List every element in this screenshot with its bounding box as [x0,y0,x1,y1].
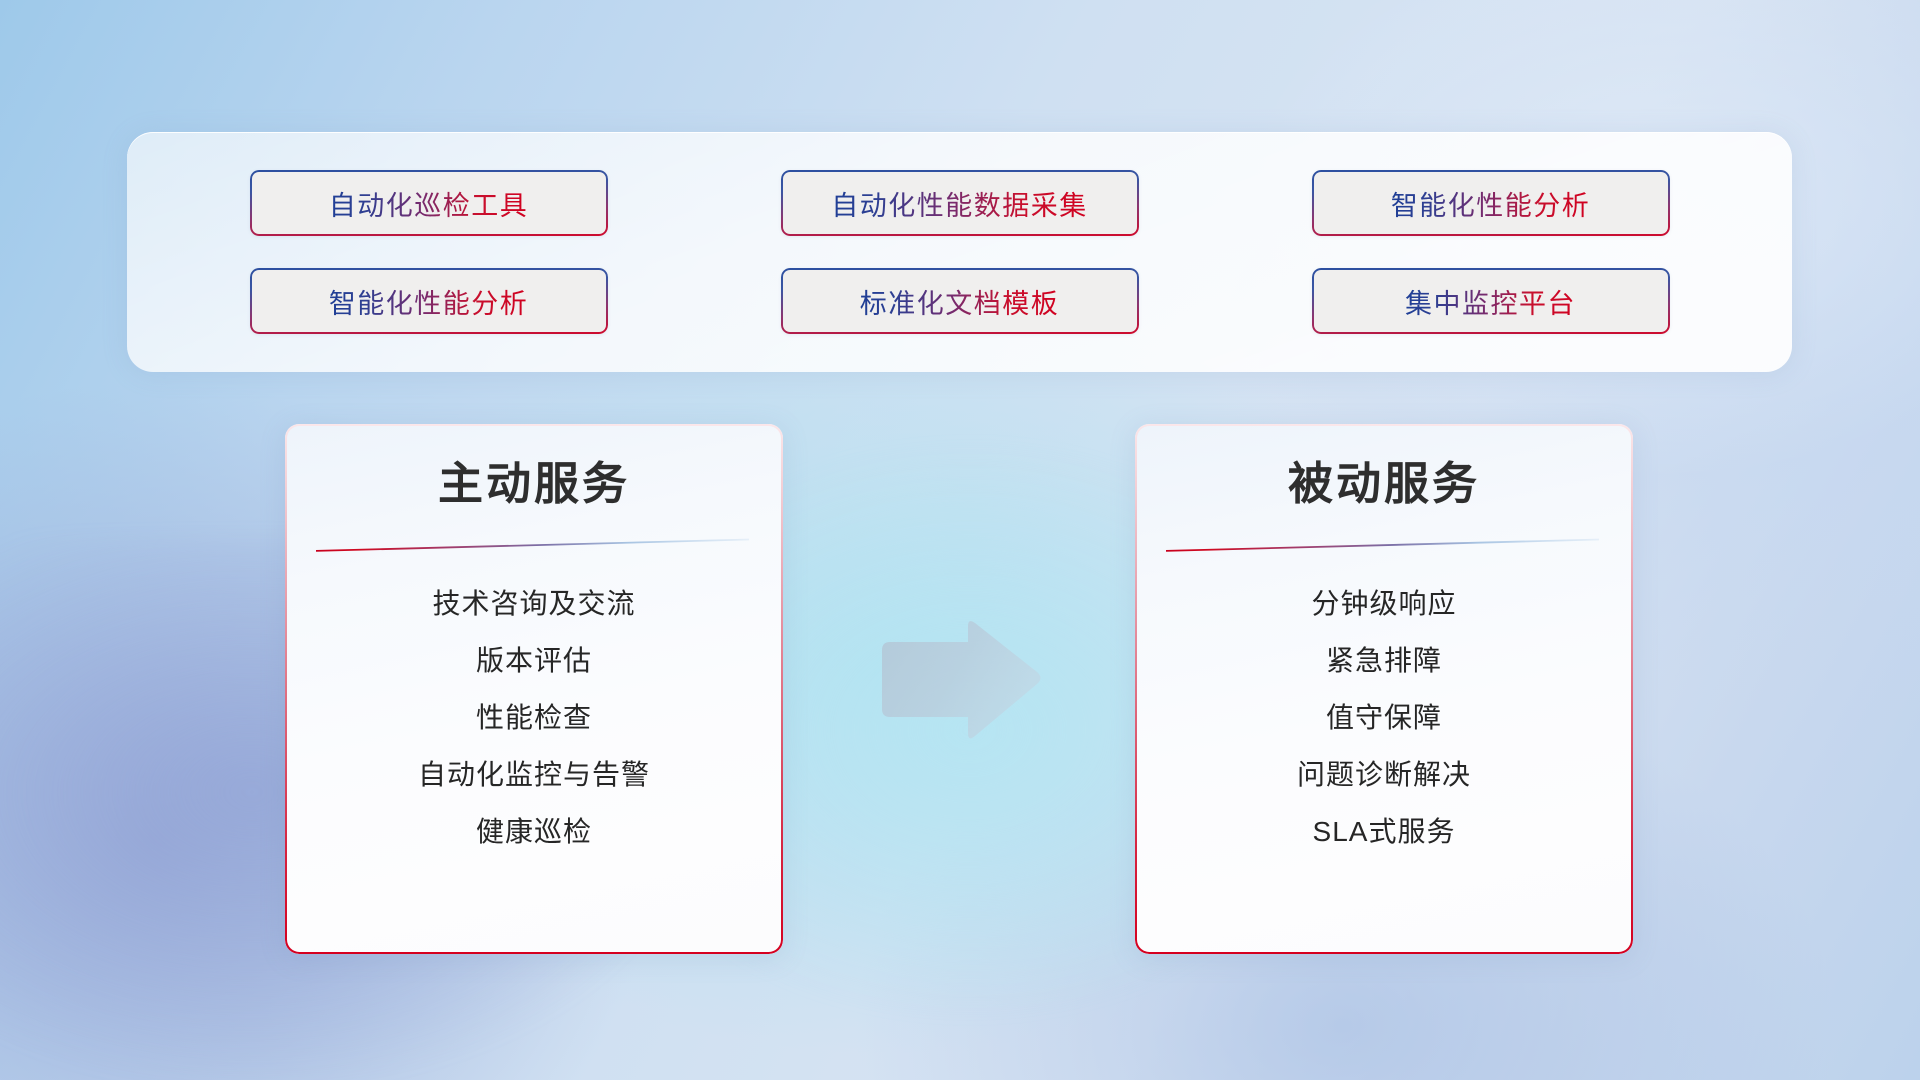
service-card-list: 分钟级响应 紧急排障 值守保障 问题诊断解决 SLA式服务 [1165,576,1603,861]
service-card-body: 被动服务 [1135,424,1633,954]
list-item: 自动化监控与告警 [315,747,753,804]
capability-pill-label: 集中监控平台 [1405,282,1576,321]
capability-pill-label: 自动化巡检工具 [329,184,529,223]
capability-pill-3[interactable]: 智能化性能分析 [1312,170,1670,236]
capabilities-panel: 自动化巡检工具 自动化性能数据采集 智能化性能分析 智能化性能分析 标准化文档模… [127,132,1792,372]
service-card-body: 主动服务 [285,424,783,954]
slide-canvas: 自动化巡检工具 自动化性能数据采集 智能化性能分析 智能化性能分析 标准化文档模… [0,0,1920,1080]
title-divider [316,538,749,552]
list-item: 版本评估 [315,633,753,690]
list-item: SLA式服务 [1165,804,1603,861]
service-card-proactive[interactable]: 主动服务 [285,424,783,954]
list-item: 健康巡检 [315,804,753,861]
capability-pill-4[interactable]: 智能化性能分析 [250,268,608,334]
service-card-reactive[interactable]: 被动服务 [1135,424,1633,954]
capability-pill-5[interactable]: 标准化文档模板 [781,268,1139,334]
list-item: 值守保障 [1165,690,1603,747]
service-card-title: 主动服务 [315,456,753,512]
arrow-right-icon [878,618,1043,743]
capability-pill-1[interactable]: 自动化巡检工具 [250,170,608,236]
capability-pill-2[interactable]: 自动化性能数据采集 [781,170,1139,236]
title-divider [1166,538,1599,552]
capability-pill-label: 智能化性能分析 [1391,184,1591,223]
service-card-title: 被动服务 [1165,456,1603,512]
service-card-list: 技术咨询及交流 版本评估 性能检查 自动化监控与告警 健康巡检 [315,576,753,861]
list-item: 问题诊断解决 [1165,747,1603,804]
capability-pill-label: 自动化性能数据采集 [831,184,1088,223]
capability-pill-label: 标准化文档模板 [860,282,1060,321]
list-item: 紧急排障 [1165,633,1603,690]
list-item: 技术咨询及交流 [315,576,753,633]
list-item: 性能检查 [315,690,753,747]
capability-pill-label: 智能化性能分析 [329,282,529,321]
capability-pill-6[interactable]: 集中监控平台 [1312,268,1670,334]
list-item: 分钟级响应 [1165,576,1603,633]
